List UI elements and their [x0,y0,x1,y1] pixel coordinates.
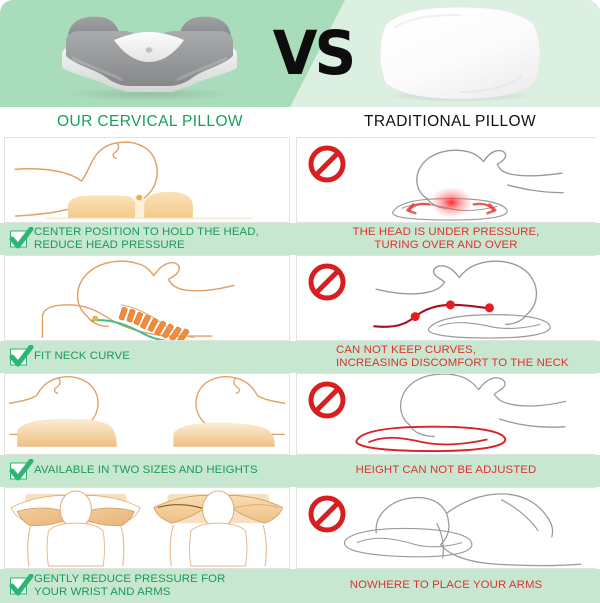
vs-label: VS [273,23,354,83]
illustration-head-with-aligned-spine [5,256,289,340]
prohibition-icon [307,262,347,302]
row-neck-curve [0,255,600,341]
prohibition-icon [307,380,347,420]
caption-right-row4: NOWHERE TO PLACE YOUR ARMS [296,569,596,603]
check-box-row3 [10,463,27,480]
caption-right-row1: THE HEAD IS UNDER PRESSURE, TURING OVER … [296,223,596,255]
illustration-top-view-arms-on-wings [5,488,289,568]
caption-band-row1: CENTER POSITION TO HOLD THE HEAD, REDUCE… [0,223,600,255]
caption-line: REDUCE HEAD PRESSURE [34,239,185,251]
cell-right-neck-curve [296,255,596,341]
vs-badge: VS [258,16,368,90]
column-title-left: OUR CERVICAL PILLOW [0,107,300,137]
caption-left-row4-text: GENTLY REDUCE PRESSURE FOR YOUR WRIST AN… [8,573,225,600]
caption-left-row3: AVAILABLE IN TWO SIZES AND HEIGHTS [4,455,294,487]
caption-line: TURING OVER AND OVER [374,239,517,251]
caption-right-row4-text: NOWHERE TO PLACE YOUR ARMS [350,579,543,592]
caption-line: CENTER POSITION TO HOLD THE HEAD, [34,226,259,238]
cell-left-neck-curve [4,255,290,341]
caption-band-row4: GENTLY REDUCE PRESSURE FOR YOUR WRIST AN… [0,569,600,603]
cell-left-arm-support [4,487,290,569]
caption-line: THE HEAD IS UNDER PRESSURE, [353,226,540,238]
comparison-grid: CENTER POSITION TO HOLD THE HEAD, REDUCE… [0,137,600,601]
caption-line: YOUR WRIST AND ARMS [34,586,171,598]
check-box-row2 [10,349,27,366]
illustration-two-pillow-heights [5,374,289,454]
cervical-pillow-photo [52,6,247,101]
caption-band-row3: AVAILABLE IN TWO SIZES AND HEIGHTS HEIGH… [0,455,600,487]
column-title-right: TRADITIONAL PILLOW [300,107,600,137]
caption-line: INCREASING DISCOMFORT TO THE NECK [336,357,569,369]
caption-band-row2: FIT NECK CURVE CAN NOT KEEP CURVES, INCR… [0,341,600,373]
cell-right-no-arm-support [296,487,596,569]
caption-right-row2-text: CAN NOT KEEP CURVES, INCREASING DISCOMFO… [336,344,569,371]
cell-right-head-pressure [296,137,596,223]
traditional-pillow-photo [372,4,548,103]
prohibition-icon [307,494,347,534]
caption-right-row2: CAN NOT KEEP CURVES, INCREASING DISCOMFO… [296,341,600,373]
caption-right-row1-text: THE HEAD IS UNDER PRESSURE, TURING OVER … [353,226,540,253]
cell-right-height-fixed [296,373,596,455]
column-titles: OUR CERVICAL PILLOW TRADITIONAL PILLOW [0,107,600,137]
caption-line: GENTLY REDUCE PRESSURE FOR [34,573,225,585]
prohibition-icon [307,144,347,184]
row-height-options [0,373,600,455]
caption-left-row2: FIT NECK CURVE [4,341,294,373]
caption-line: CAN NOT KEEP CURVES, [336,344,476,356]
check-box-row4 [10,578,27,595]
caption-right-row3: HEIGHT CAN NOT BE ADJUSTED [296,455,596,487]
illustration-head-on-contoured-pillow [5,138,289,222]
row-head-support [0,137,600,223]
caption-left-row1: CENTER POSITION TO HOLD THE HEAD, REDUCE… [4,223,294,255]
caption-right-row3-text: HEIGHT CAN NOT BE ADJUSTED [356,464,537,477]
header-banner: VS [0,0,600,107]
caption-left-row1-text: CENTER POSITION TO HOLD THE HEAD, REDUCE… [8,226,259,253]
check-box-row1 [10,231,27,248]
comparison-infographic: VS OUR CERVICAL PILLOW TRADITIONAL PILLO… [0,0,600,601]
caption-left-row3-text: AVAILABLE IN TWO SIZES AND HEIGHTS [8,464,258,477]
cell-left-head-support [4,137,290,223]
cell-left-height-options [4,373,290,455]
row-arm-support [0,487,600,569]
caption-left-row4: GENTLY REDUCE PRESSURE FOR YOUR WRIST AN… [4,569,294,603]
